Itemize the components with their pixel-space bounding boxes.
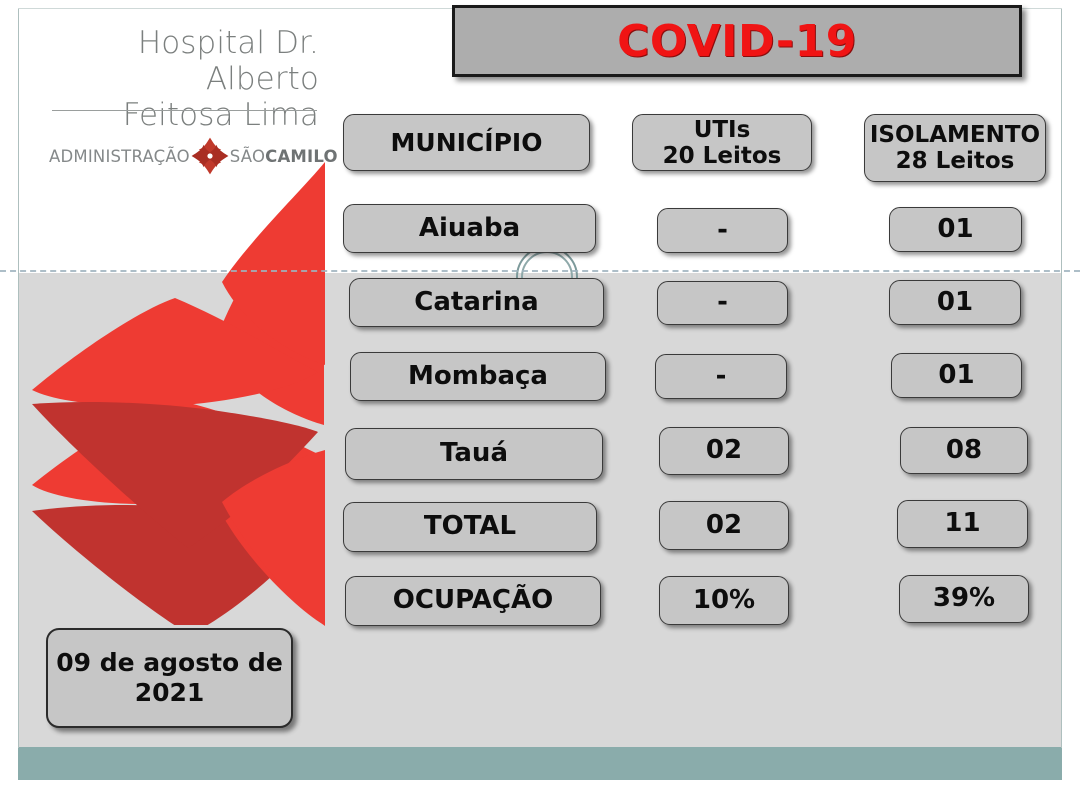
header-utis: UTIs 20 Leitos (632, 114, 812, 171)
hospital-name-line2: Feitosa Lima (37, 97, 319, 133)
table-row-isolamento-3: 08 (900, 427, 1028, 474)
section-dashed-divider (0, 270, 1080, 272)
table-row-utis-2: - (655, 354, 787, 399)
table-row-utis-1: - (657, 281, 788, 325)
table-row-utis-0: - (657, 208, 788, 253)
table-row-municipio-2: Mombaça (350, 352, 606, 401)
slide-canvas: Hospital Dr. Alberto Feitosa Lima ADMINI… (0, 0, 1080, 786)
decorative-petal-graphic-detail (0, 150, 350, 630)
table-row-municipio-4: TOTAL (343, 502, 597, 552)
table-row-municipio-3: Tauá (345, 428, 603, 480)
date-box: 09 de agosto de 2021 (46, 628, 293, 728)
header-isolamento-sub: 28 Leitos (896, 148, 1015, 174)
table-row-utis-5: 10% (659, 576, 789, 625)
header-isolamento-label: ISOLAMENTO (870, 122, 1040, 148)
header-isolamento: ISOLAMENTO 28 Leitos (864, 114, 1046, 182)
footer-teal-strip (18, 747, 1062, 780)
table-row-isolamento-1: 01 (889, 280, 1021, 325)
hospital-name-line1: Hospital Dr. Alberto (37, 25, 319, 97)
header-utis-sub: 20 Leitos (663, 143, 782, 169)
date-line1: 09 de agosto de (56, 648, 283, 679)
slide-frame-right-edge (1061, 8, 1062, 748)
table-row-utis-3: 02 (659, 427, 789, 475)
table-row-utis-4: 02 (659, 501, 789, 550)
table-row-isolamento-2: 01 (891, 353, 1022, 398)
hospital-name: Hospital Dr. Alberto Feitosa Lima (37, 25, 319, 133)
table-row-isolamento-5: 39% (899, 575, 1029, 623)
covid-banner: COVID-19 (452, 5, 1022, 77)
logo-divider-rule (52, 110, 317, 111)
covid-banner-title: COVID-19 (617, 16, 857, 67)
table-row-isolamento-4: 11 (897, 500, 1028, 548)
date-line2: 2021 (56, 678, 283, 709)
table-row-municipio-1: Catarina (349, 278, 604, 327)
header-utis-label: UTIs (694, 117, 751, 143)
header-municipio: MUNICÍPIO (343, 114, 590, 171)
table-row-municipio-5: OCUPAÇÃO (345, 576, 601, 626)
table-row-municipio-0: Aiuaba (343, 204, 596, 253)
table-row-isolamento-0: 01 (889, 207, 1022, 252)
